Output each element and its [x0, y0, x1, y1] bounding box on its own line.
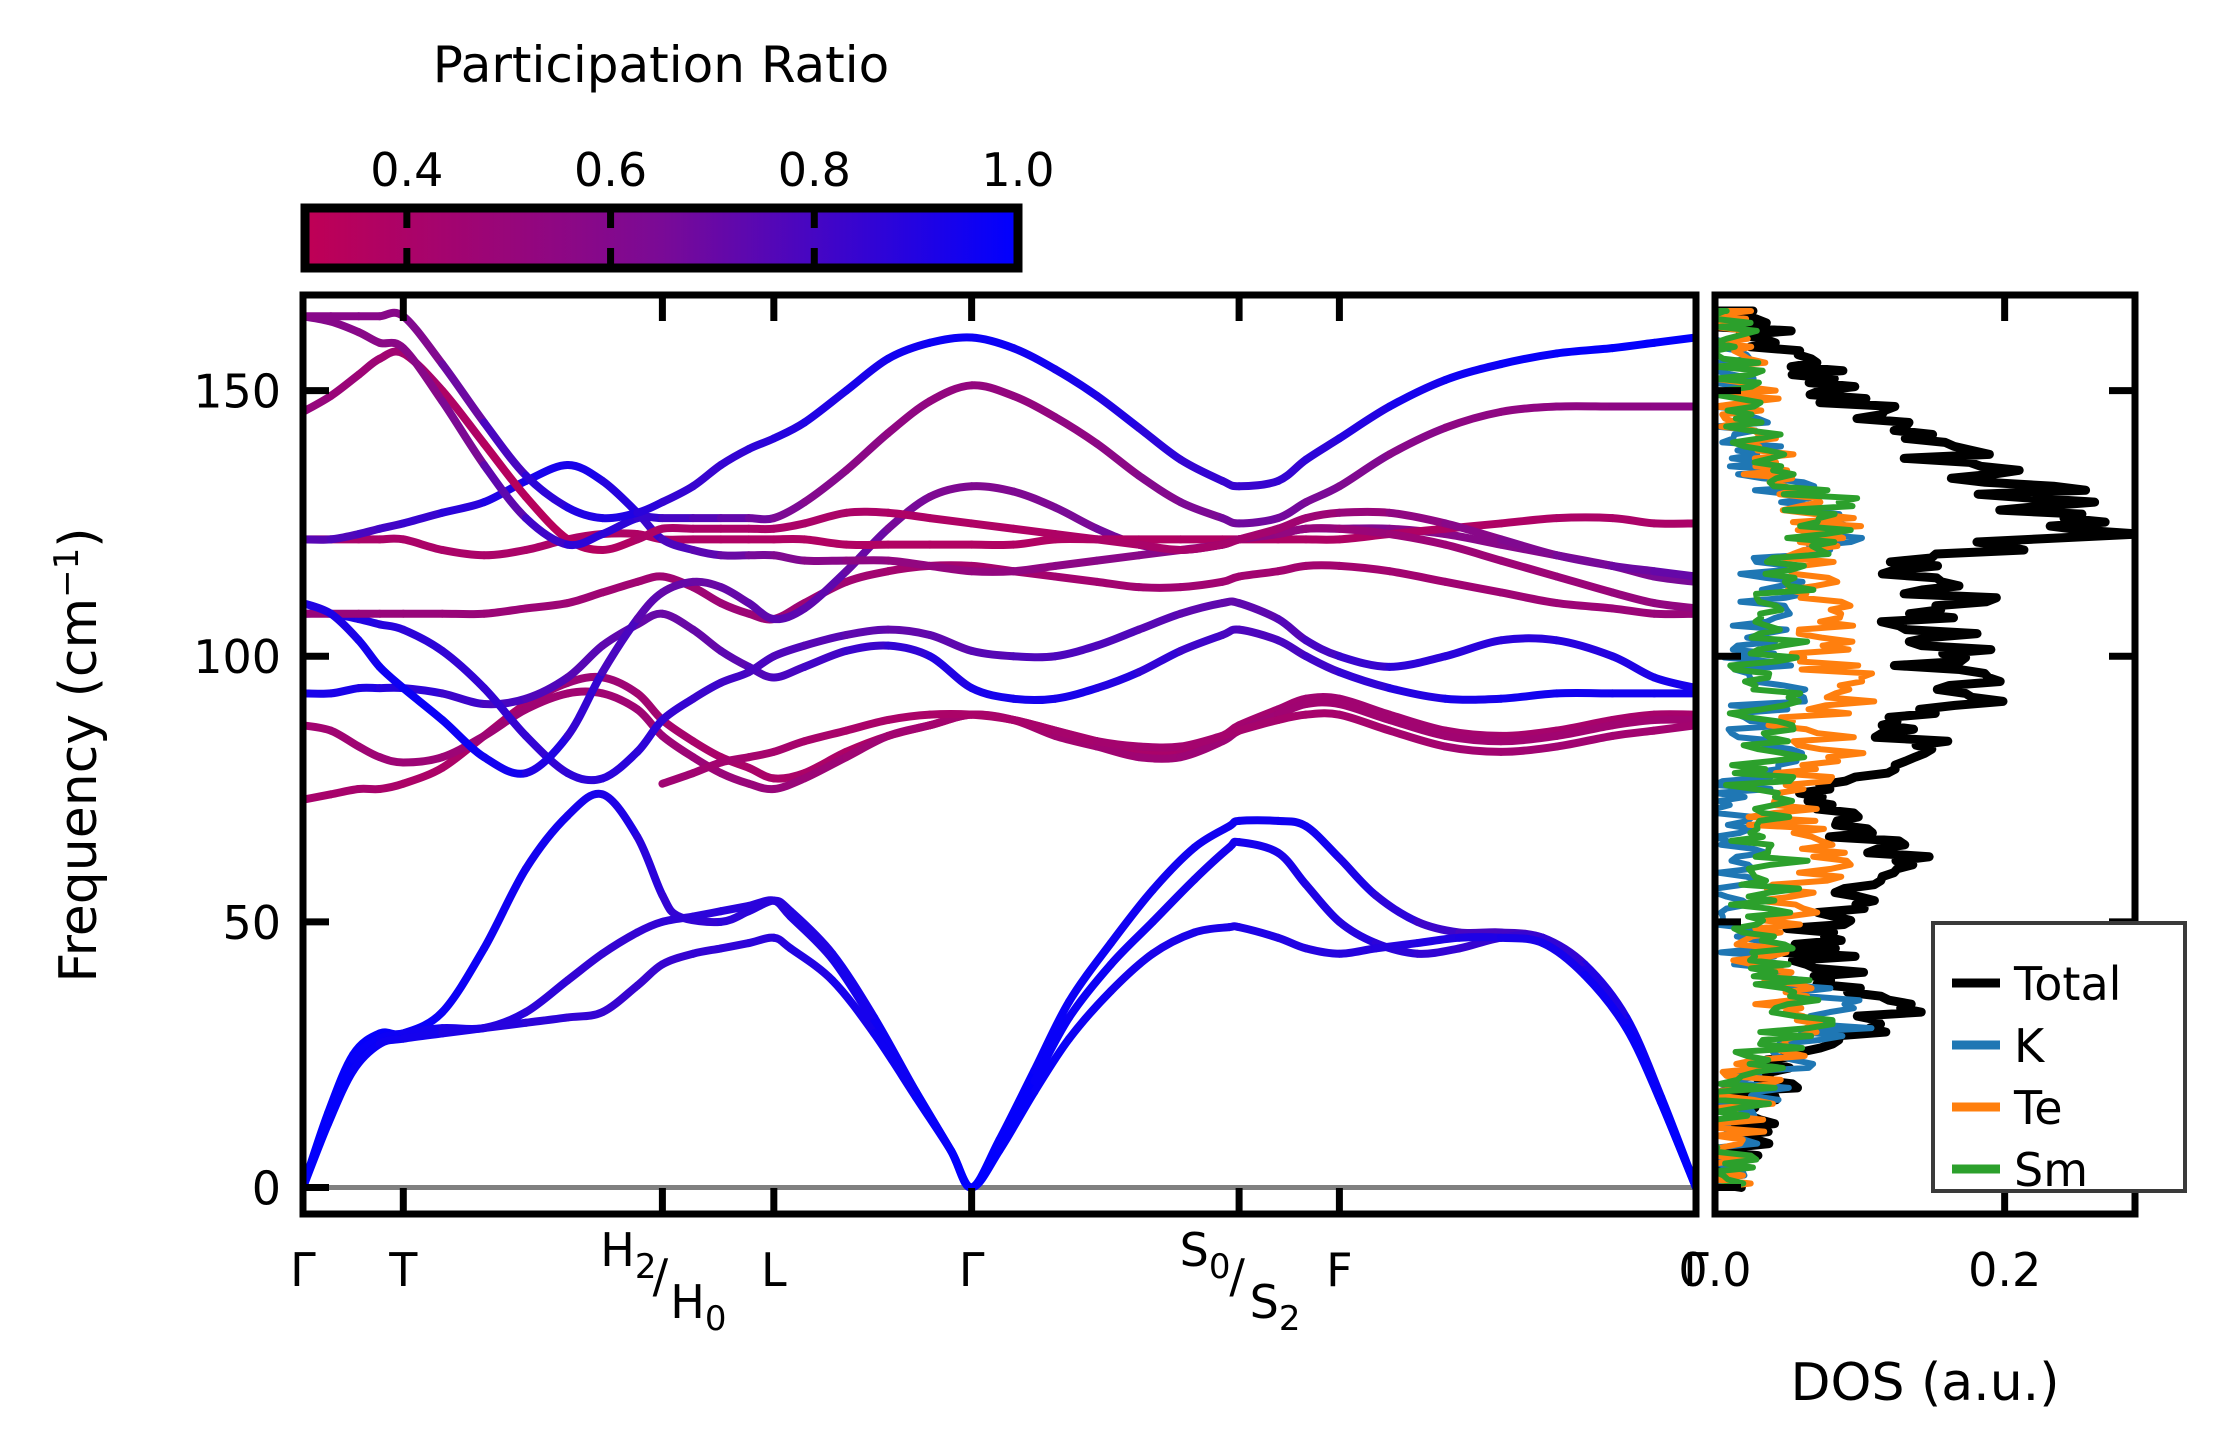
band-segment: [1306, 702, 1339, 704]
band-segment: [303, 725, 331, 730]
band-segment: [331, 789, 359, 794]
band-segment: [888, 561, 930, 566]
band-segment: [568, 691, 603, 693]
band-segment: [972, 523, 1014, 528]
figure-canvas: Participation Ratio 0.40.60.81.0 0501001…: [0, 0, 2222, 1455]
legend-label-te: Te: [2013, 1081, 2063, 1135]
bands-x-tick-label: Γ: [290, 1243, 316, 1297]
band-segment: [331, 534, 359, 539]
colorbar-tick-label: 1.0: [981, 143, 1054, 197]
band-segment: [526, 1017, 568, 1022]
band-segment: [804, 539, 846, 544]
band-segment: [846, 512, 888, 513]
band-segment: [1612, 566, 1654, 571]
band-segment: [1055, 534, 1097, 539]
colorbar-tick-label: 0.4: [370, 143, 443, 197]
dos-x-tick-label: 0.0: [1678, 1243, 1751, 1297]
band-segment: [1557, 603, 1613, 608]
band-segment: [484, 1023, 526, 1028]
y-axis-label-main: Frequency (cm: [49, 598, 109, 983]
band-segment: [1654, 725, 1696, 730]
y-axis-label-tail: ): [49, 527, 109, 547]
band-segment: [1097, 555, 1139, 560]
band-segment: [1376, 943, 1418, 948]
band-segment: [1013, 539, 1055, 544]
band-segment: [1445, 699, 1501, 700]
band-segment: [1306, 713, 1339, 714]
legend-label-k: K: [2014, 1019, 2046, 1073]
colorbar-tick-label: 0.8: [778, 143, 851, 197]
colorbar-gradient[interactable]: [305, 208, 1018, 268]
band-segment: [774, 523, 805, 528]
dos-x-axis-label: DOS (a.u.): [1791, 1353, 2060, 1413]
band-segment: [930, 566, 972, 571]
bands-x-tick-label: L: [761, 1243, 787, 1297]
band-segment: [1612, 343, 1654, 348]
band-segment: [1013, 566, 1055, 571]
band-segment: [568, 1012, 603, 1017]
band-segment: [1459, 932, 1501, 933]
band-segment: [1417, 938, 1459, 943]
band-segment: [1139, 587, 1181, 588]
y-axis-label-exponent: −1: [47, 548, 87, 598]
dos-legend[interactable]: TotalKTeSm: [1933, 923, 2185, 1197]
band-segment: [1013, 529, 1055, 534]
band-segment: [1501, 693, 1557, 698]
band-segment: [662, 917, 693, 922]
band-segment: [526, 603, 568, 608]
band-segment: [693, 911, 721, 916]
band-segment: [721, 943, 749, 948]
band-segment: [1612, 720, 1654, 725]
band-segment: [1654, 571, 1696, 576]
band-segment: [1557, 348, 1613, 353]
bands-x-tick-label: Γ: [959, 1243, 985, 1297]
band-segment: [303, 794, 331, 799]
legend-label-sm: Sm: [2014, 1143, 2088, 1197]
band-segment: [1654, 338, 1696, 343]
band-segment: [1139, 757, 1181, 759]
band-segment: [888, 513, 930, 518]
band-segment: [1013, 699, 1055, 700]
band-segment: [1139, 752, 1181, 754]
band-segment: [1278, 566, 1306, 571]
band-segment: [1055, 561, 1097, 566]
band-segment: [1459, 937, 1501, 938]
dos-x-tick-label: 0.2: [1968, 1243, 2041, 1297]
bands-y-tick-label: 50: [222, 896, 281, 950]
band-segment: [1612, 608, 1654, 613]
band-segment: [1557, 517, 1613, 518]
legend-label-total: Total: [2013, 957, 2121, 1011]
band-segment: [774, 555, 805, 560]
band-segment: [972, 571, 1014, 572]
band-segment: [1654, 603, 1696, 608]
band-segment: [331, 688, 359, 693]
bands-x-tick-label: T: [388, 1243, 418, 1297]
band-segment: [1055, 577, 1097, 582]
band-segment: [662, 528, 693, 529]
band-segment: [721, 906, 749, 911]
band-segment: [1339, 512, 1389, 513]
fraction-slash: /: [653, 1249, 669, 1303]
band-segment: [1501, 518, 1557, 523]
band-segment: [1239, 820, 1278, 821]
band-segment: [693, 948, 721, 953]
band-segment: [1339, 566, 1389, 571]
band-segment: [1139, 747, 1181, 748]
bands-y-tick-label: 0: [252, 1161, 281, 1215]
figure-root: Participation Ratio 0.40.60.81.0 0501001…: [0, 0, 2222, 1455]
band-segment: [1339, 529, 1389, 534]
colorbar-tick-label: 0.6: [574, 143, 647, 197]
bands-y-tick-label: 100: [193, 630, 281, 684]
band-segment: [1501, 638, 1557, 640]
band-segment: [1097, 582, 1139, 587]
band-segment: [1306, 697, 1339, 699]
band-segment: [1612, 518, 1654, 523]
bands-x-tick-label: F: [1326, 1243, 1352, 1297]
band-segment: [930, 518, 972, 523]
band-segment: [1612, 731, 1654, 736]
band-segment: [484, 608, 526, 613]
fraction-slash: /: [1229, 1249, 1245, 1303]
band-segment: [721, 757, 749, 762]
band-segment: [930, 714, 972, 715]
band-segment: [1239, 571, 1278, 576]
band-segment: [1306, 528, 1339, 529]
bands-y-tick-label: 150: [193, 365, 281, 419]
colorbar-title: Participation Ratio: [433, 36, 889, 94]
band-segment: [403, 1033, 442, 1038]
band-segment: [1306, 565, 1339, 566]
band-segment: [442, 1028, 484, 1033]
band-segment: [1097, 539, 1139, 544]
band-segment: [1013, 656, 1055, 657]
